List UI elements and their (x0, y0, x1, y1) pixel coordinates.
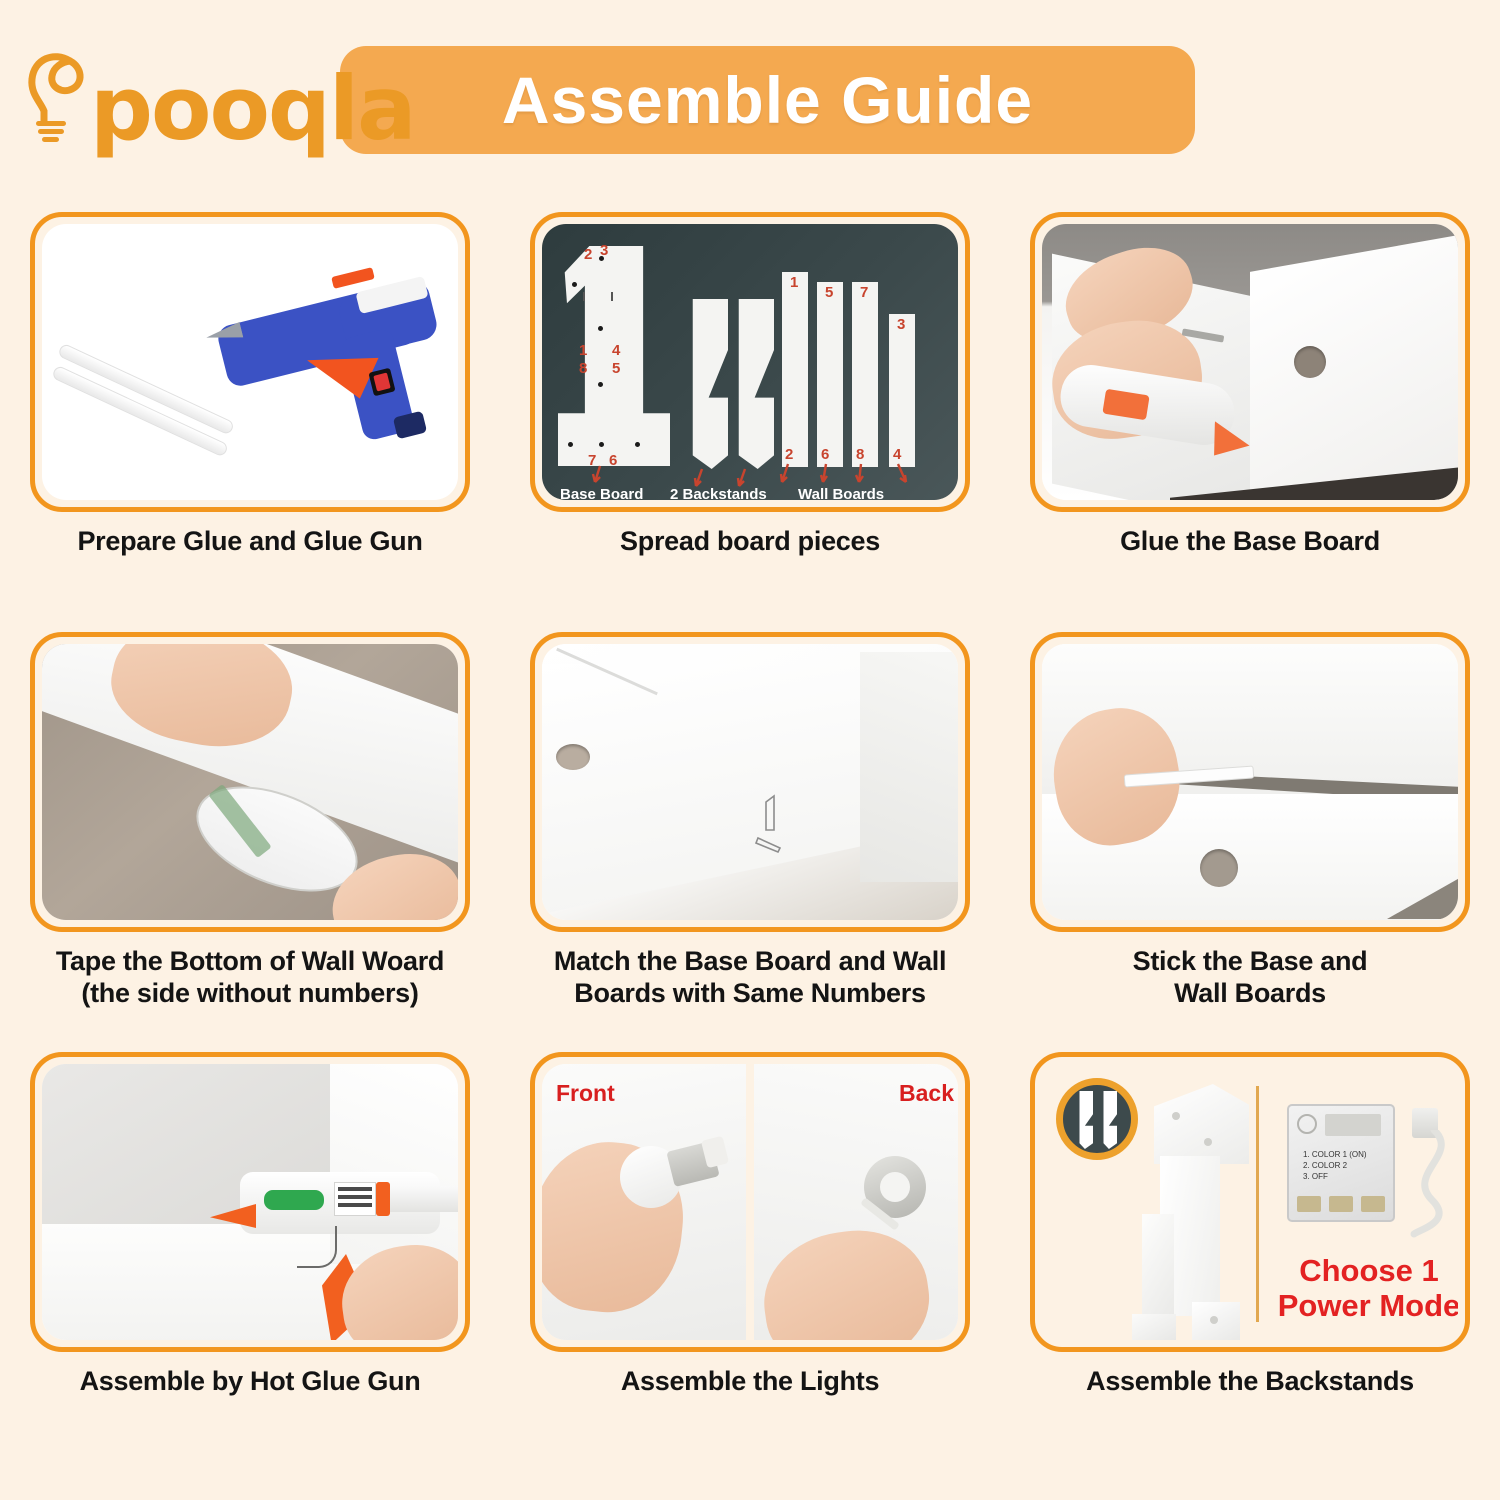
step-card-5: Match the Base Board and Wall Boards wit… (500, 632, 1000, 1052)
board-pieces-diagram: 2 3 1 8 4 5 7 6 1 5 (542, 224, 958, 500)
front-label: Front (556, 1080, 615, 1107)
label-base-board: Base Board (560, 486, 643, 500)
step-card-7: Assemble by Hot Glue Gun (0, 1052, 500, 1472)
step-caption-1: Prepare Glue and Glue Gun (77, 526, 422, 558)
step-caption-8: Assemble the Lights (621, 1366, 879, 1398)
step-caption-line1: Assemble the Backstands (1086, 1366, 1414, 1396)
step-card-8: Front Back Assemble the Lights (500, 1052, 1000, 1472)
step-caption-7: Assemble by Hot Glue Gun (80, 1366, 421, 1398)
tape-wall-board-photo (42, 644, 458, 920)
step-image-frame-7 (30, 1052, 470, 1352)
steps-grid: Prepare Glue and Glue Gun 2 (0, 212, 1500, 1472)
assemble-backstands-photo: 1. COLOR 1 (ON) 2. COLOR 2 3. OFF Choose… (1042, 1064, 1458, 1340)
step-image-frame-9: 1. COLOR 1 (ON) 2. COLOR 2 3. OFF Choose… (1030, 1052, 1470, 1352)
step-caption-4: Tape the Bottom of Wall Woard (the side … (56, 946, 444, 1010)
step-card-4: Tape the Bottom of Wall Woard (the side … (0, 632, 500, 1052)
step-caption-line1: Prepare Glue and Glue Gun (77, 526, 422, 556)
lightbulb-icon (24, 49, 98, 149)
step-card-9: 1. COLOR 1 (ON) 2. COLOR 2 3. OFF Choose… (1000, 1052, 1500, 1472)
glue-gun-photo (42, 224, 458, 500)
step-image-frame-8: Front Back (530, 1052, 970, 1352)
step-caption-line1: Stick the Base and (1133, 946, 1368, 976)
assemble-lights-photo: Front Back (542, 1064, 958, 1340)
choose-power-mode-text: Choose 1 Power Mode (1274, 1254, 1458, 1323)
choose-line-2: Power Mode (1278, 1288, 1458, 1323)
label-backstands: 2 Backstands (670, 486, 767, 500)
back-label: Back (899, 1080, 954, 1107)
panel-divider (1256, 1086, 1259, 1322)
hot-glue-gun-photo (42, 1064, 458, 1340)
step-caption-line1: Assemble the Lights (621, 1366, 879, 1396)
board-number-1-marking (752, 794, 802, 864)
step-image-frame-3 (1030, 212, 1470, 512)
pointer-arrows (542, 224, 958, 500)
glue-base-board-photo (1042, 224, 1458, 500)
step-image-frame-5 (530, 632, 970, 932)
step-caption-line2: (the side without numbers) (56, 978, 444, 1010)
step-caption-line1: Spread board pieces (620, 526, 880, 556)
step-image-frame-2: 2 3 1 8 4 5 7 6 1 5 (530, 212, 970, 512)
page-header: pooqla Assemble Guide (0, 0, 1500, 200)
step-caption-9: Assemble the Backstands (1086, 1366, 1414, 1398)
step-image-frame-6 (1030, 632, 1470, 932)
step-caption-3: Glue the Base Board (1120, 526, 1380, 558)
label-wall-boards: Wall Boards (798, 486, 884, 500)
choose-line-1: Choose 1 (1299, 1253, 1439, 1288)
brand-name: pooqla (90, 57, 414, 160)
step-caption-line1: Glue the Base Board (1120, 526, 1380, 556)
step-image-frame-4 (30, 632, 470, 932)
step-caption-line2: Wall Boards (1133, 978, 1368, 1010)
title-banner: Assemble Guide (340, 46, 1195, 154)
step-caption-line1: Assemble by Hot Glue Gun (80, 1366, 421, 1396)
step-caption-2: Spread board pieces (620, 526, 880, 558)
page-title: Assemble Guide (502, 62, 1033, 138)
step-caption-5: Match the Base Board and Wall Boards wit… (554, 946, 946, 1010)
match-numbers-photo (542, 644, 958, 920)
step-caption-line1: Match the Base Board and Wall (554, 946, 946, 976)
step-caption-line2: Boards with Same Numbers (554, 978, 946, 1010)
step-card-1: Prepare Glue and Glue Gun (0, 212, 500, 632)
battery-modes-text: 1. COLOR 1 (ON) 2. COLOR 2 3. OFF (1303, 1150, 1367, 1182)
assembly-guide-page: pooqla Assemble Guide (0, 0, 1500, 1500)
battery-box: 1. COLOR 1 (ON) 2. COLOR 2 3. OFF (1287, 1104, 1395, 1222)
backstand-pieces-icon (1056, 1078, 1138, 1160)
step-caption-line1: Tape the Bottom of Wall Woard (56, 946, 444, 976)
stick-boards-photo (1042, 644, 1458, 920)
step-card-3: Glue the Base Board (1000, 212, 1500, 632)
step-card-2: 2 3 1 8 4 5 7 6 1 5 (500, 212, 1000, 632)
step-card-6: Stick the Base and Wall Boards (1000, 632, 1500, 1052)
usb-cable-icon (1398, 1130, 1458, 1240)
step-image-frame-1 (30, 212, 470, 512)
step-caption-6: Stick the Base and Wall Boards (1133, 946, 1368, 1010)
brand-logo: pooqla (18, 35, 318, 165)
